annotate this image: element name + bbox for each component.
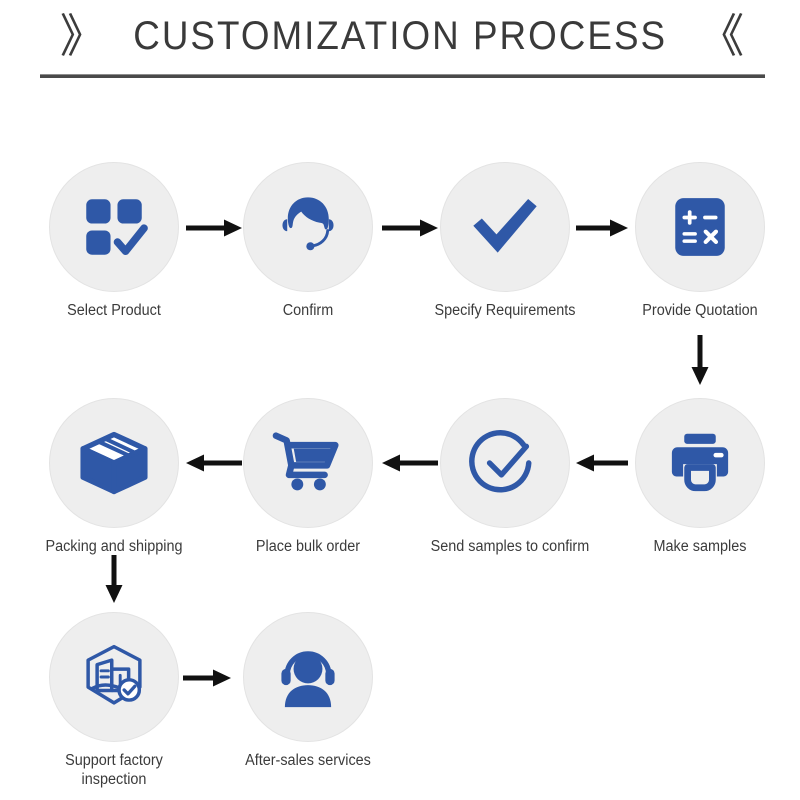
step-icon-bubble [49,162,179,292]
step-node-make-samples[interactable]: Make samples [620,398,780,556]
connector-arrow-right-1 [184,215,244,241]
step-label: Make samples [626,537,775,556]
step-label: Place bulk order [234,537,383,556]
checkmark-icon [466,188,544,266]
connector-arrow-right-3 [574,215,630,241]
connector-arrow-right-4 [181,665,233,691]
printer-icon [664,427,736,499]
calculator-icon [667,194,733,260]
shopping-cart-icon [270,425,346,501]
step-icon-bubble [635,162,765,292]
step-label: Support factory inspection [40,751,189,790]
connector-arrow-left-2 [380,450,440,476]
step-node-send-samples-to-confirm[interactable]: Send samples to confirm [425,398,585,556]
step-icon-bubble [635,398,765,528]
step-label: Select Product [40,301,189,320]
circle-check-icon [467,425,543,501]
step-label: After-sales services [234,751,383,770]
step-node-place-bulk-order[interactable]: Place bulk order [228,398,388,556]
step-label: Specify Requirements [431,301,580,320]
step-icon-bubble [243,398,373,528]
step-icon-bubble [49,398,179,528]
step-icon-bubble [243,612,373,742]
step-icon-bubble [243,162,373,292]
step-icon-bubble [49,612,179,742]
step-icon-bubble [440,162,570,292]
step-node-confirm[interactable]: Confirm [228,162,388,320]
step-node-specify-requirements[interactable]: Specify Requirements [425,162,585,320]
step-node-after-sales-services[interactable]: After-sales services [228,612,388,770]
step-label: Provide Quotation [626,301,775,320]
connector-arrow-left-1 [574,450,630,476]
connector-arrow-right-2 [380,215,440,241]
step-label: Send samples to confirm [431,537,580,556]
grid-check-icon [77,190,151,264]
step-node-packing-and-shipping[interactable]: Packing and shipping [34,398,194,556]
package-box-icon [76,425,152,501]
connector-arrow-left-3 [184,450,244,476]
step-node-support-factory-inspection[interactable]: Support factory inspection [34,612,194,790]
step-label: Confirm [234,301,383,320]
step-node-select-product[interactable]: Select Product [34,162,194,320]
connector-arrow-down-left [101,553,127,605]
connector-arrow-down-right [687,333,713,387]
process-flow: Select Product Confirm [0,0,800,800]
headset-agent-icon [270,189,346,265]
headphones-person-icon [271,640,345,714]
step-node-provide-quotation[interactable]: Provide Quotation [620,162,780,320]
step-icon-bubble [440,398,570,528]
factory-shield-check-icon [78,641,150,713]
